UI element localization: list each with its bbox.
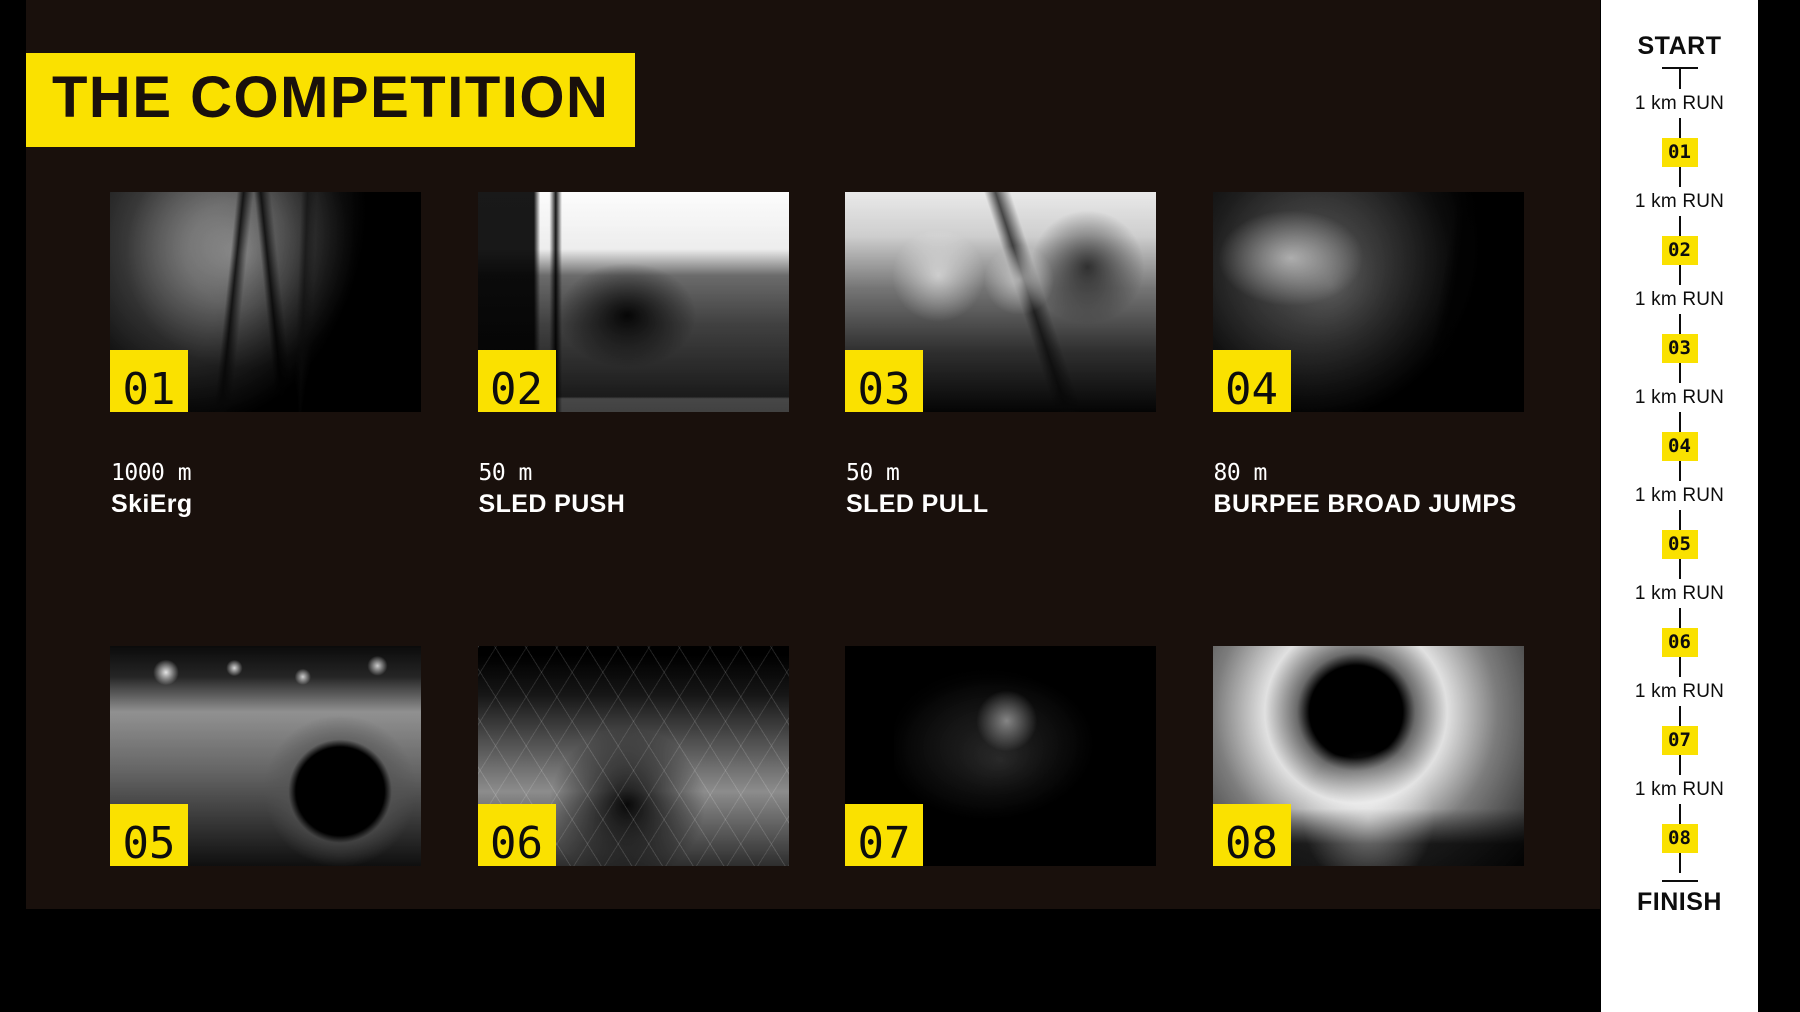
exercise-caption-01: 1000 m SkiErg xyxy=(110,458,478,521)
timeline-segment-03: 1 km RUN 03 xyxy=(1635,285,1724,383)
exercise-card-02[interactable]: 02 50 m SLED PUSH xyxy=(478,192,846,521)
timeline-run-label: 1 km RUN xyxy=(1635,91,1724,117)
exercise-badge-number: 02 xyxy=(490,368,543,412)
timeline-connector xyxy=(1679,853,1681,873)
timeline-connector xyxy=(1679,559,1681,579)
exercise-amount: 50 m xyxy=(846,458,1213,488)
exercise-card-01[interactable]: 01 1000 m SkiErg xyxy=(110,192,478,521)
timeline-station-01[interactable]: 01 xyxy=(1662,138,1698,167)
main-content-panel: THE COMPETITION 01 1000 m SkiErg xyxy=(26,0,1600,909)
timeline-connector xyxy=(1679,167,1681,187)
timeline-station-number: 06 xyxy=(1668,633,1691,652)
exercise-row-1: 01 1000 m SkiErg 02 xyxy=(110,192,1580,521)
exercise-badge-01: 01 xyxy=(110,350,188,412)
timeline-station-03[interactable]: 03 xyxy=(1662,334,1698,363)
exercise-amount: 50 m xyxy=(479,458,846,488)
timeline-station-number: 02 xyxy=(1668,241,1691,260)
exercise-image-07: 07 xyxy=(845,646,1156,866)
timeline-finish-label: FINISH xyxy=(1637,888,1722,916)
timeline-connector xyxy=(1679,755,1681,775)
timeline-connector xyxy=(1679,804,1681,824)
timeline-station-02[interactable]: 02 xyxy=(1662,236,1698,265)
page-title: THE COMPETITION xyxy=(52,67,609,129)
exercise-amount: 80 m xyxy=(1214,458,1581,488)
timeline-station-08[interactable]: 08 xyxy=(1662,824,1698,853)
timeline-segment-01: 1 km RUN 01 xyxy=(1635,89,1724,187)
exercise-grid: 01 1000 m SkiErg 02 xyxy=(110,192,1580,909)
timeline-station-number: 08 xyxy=(1668,829,1691,848)
exercise-badge-number: 08 xyxy=(1225,822,1278,866)
timeline-connector xyxy=(1679,363,1681,383)
timeline-run-label: 1 km RUN xyxy=(1635,777,1724,803)
exercise-caption-04: 80 m BURPEE BROAD JUMPS xyxy=(1213,458,1581,521)
timeline-connector xyxy=(1679,216,1681,236)
exercise-badge-number: 05 xyxy=(123,822,176,866)
timeline-connector xyxy=(1679,118,1681,138)
exercise-card-08[interactable]: 08 100 × WALL BALLS xyxy=(1213,646,1581,909)
timeline-station-05[interactable]: 05 xyxy=(1662,530,1698,559)
timeline-start-label: START xyxy=(1638,32,1722,60)
timeline-connector xyxy=(1679,461,1681,481)
exercise-image-04: 04 xyxy=(1213,192,1524,412)
timeline-segment-02: 1 km RUN 02 xyxy=(1635,187,1724,285)
exercise-badge-number: 06 xyxy=(490,822,543,866)
exercise-card-03[interactable]: 03 50 m SLED PULL xyxy=(845,192,1213,521)
timeline-run-label: 1 km RUN xyxy=(1635,679,1724,705)
timeline-run-label: 1 km RUN xyxy=(1635,189,1724,215)
timeline-connector xyxy=(1679,69,1681,89)
timeline-run-label: 1 km RUN xyxy=(1635,385,1724,411)
timeline-station-04[interactable]: 04 xyxy=(1662,432,1698,461)
exercise-image-06: 06 xyxy=(478,646,789,866)
timeline-connector xyxy=(1679,314,1681,334)
timeline-run-label: 1 km RUN xyxy=(1635,287,1724,313)
exercise-card-04[interactable]: 04 80 m BURPEE BROAD JUMPS xyxy=(1213,192,1581,521)
exercise-row-2: 05 1000 m ROWING 06 xyxy=(110,646,1580,909)
timeline-run-label: 1 km RUN xyxy=(1635,483,1724,509)
exercise-name: BURPEE BROAD JUMPS xyxy=(1214,488,1544,521)
race-timeline-panel: START 1 km RUN 01 1 km RUN 02 1 km RUN 0… xyxy=(1601,0,1758,1012)
timeline-segment-05: 1 km RUN 05 xyxy=(1635,481,1724,579)
exercise-badge-number: 07 xyxy=(858,822,911,866)
exercise-badge-04: 04 xyxy=(1213,350,1291,412)
timeline-connector xyxy=(1679,608,1681,628)
exercise-badge-06: 06 xyxy=(478,804,556,866)
exercise-badge-number: 04 xyxy=(1225,368,1278,412)
timeline-station-07[interactable]: 07 xyxy=(1662,726,1698,755)
exercise-badge-02: 02 xyxy=(478,350,556,412)
exercise-badge-03: 03 xyxy=(845,350,923,412)
exercise-image-03: 03 xyxy=(845,192,1156,412)
exercise-name: SLED PUSH xyxy=(479,488,809,521)
exercise-name: SkiErg xyxy=(111,488,441,521)
exercise-image-05: 05 xyxy=(110,646,421,866)
timeline-connector xyxy=(1679,265,1681,285)
timeline-finish-cap-icon xyxy=(1662,880,1698,882)
timeline-segment-08: 1 km RUN 08 xyxy=(1635,775,1724,882)
timeline-segment-06: 1 km RUN 06 xyxy=(1635,579,1724,677)
timeline-connector xyxy=(1679,706,1681,726)
timeline-connector xyxy=(1679,412,1681,432)
timeline-station-number: 01 xyxy=(1668,143,1691,162)
timeline-station-number: 03 xyxy=(1668,339,1691,358)
exercise-badge-number: 03 xyxy=(858,368,911,412)
page-title-banner: THE COMPETITION xyxy=(26,53,635,147)
exercise-badge-07: 07 xyxy=(845,804,923,866)
timeline-station-06[interactable]: 06 xyxy=(1662,628,1698,657)
timeline-station-number: 05 xyxy=(1668,535,1691,554)
timeline-station-number: 07 xyxy=(1668,731,1691,750)
exercise-amount: 1000 m xyxy=(111,458,478,488)
exercise-card-07[interactable]: 07 100 m SANDBAG LUNGES xyxy=(845,646,1213,909)
timeline-run-label: 1 km RUN xyxy=(1635,581,1724,607)
exercise-badge-08: 08 xyxy=(1213,804,1291,866)
exercise-card-06[interactable]: 06 200 m FARMERS CARRY xyxy=(478,646,846,909)
exercise-image-01: 01 xyxy=(110,192,421,412)
exercise-image-02: 02 xyxy=(478,192,789,412)
exercise-image-08: 08 xyxy=(1213,646,1524,866)
timeline-connector xyxy=(1679,657,1681,677)
exercise-badge-05: 05 xyxy=(110,804,188,866)
timeline-segment-07: 1 km RUN 07 xyxy=(1635,677,1724,775)
timeline-station-number: 04 xyxy=(1668,437,1691,456)
exercise-badge-number: 01 xyxy=(123,368,176,412)
screen-root: THE COMPETITION 01 1000 m SkiErg xyxy=(0,0,1800,1012)
exercise-caption-02: 50 m SLED PUSH xyxy=(478,458,846,521)
timeline-segment-04: 1 km RUN 04 xyxy=(1635,383,1724,481)
exercise-caption-03: 50 m SLED PULL xyxy=(845,458,1213,521)
exercise-name: SLED PULL xyxy=(846,488,1176,521)
timeline-connector xyxy=(1679,510,1681,530)
exercise-card-05[interactable]: 05 1000 m ROWING xyxy=(110,646,478,909)
